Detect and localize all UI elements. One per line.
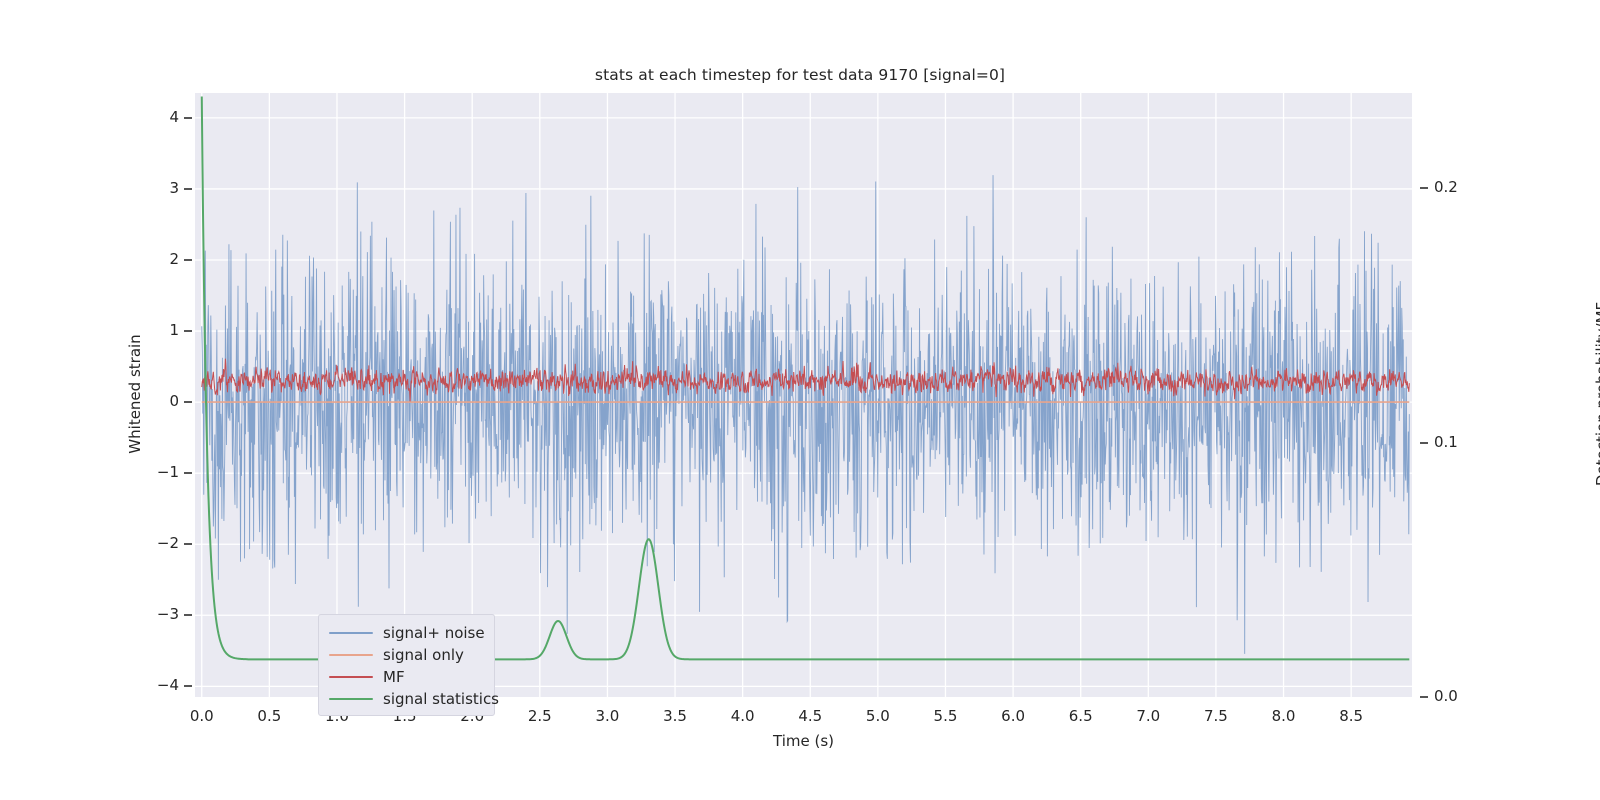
y-tick-mark-left xyxy=(184,188,192,190)
x-tick-label: 8.5 xyxy=(1321,707,1381,725)
legend-item: signal statistics xyxy=(319,688,496,710)
y-tick-label-left: −4 xyxy=(135,676,179,694)
y-tick-label-right: 0.0 xyxy=(1434,687,1458,705)
legend: signal+ noisesignal onlyMFsignal statist… xyxy=(318,614,495,716)
x-tick-label: 3.5 xyxy=(645,707,705,725)
x-tick-label: 0.0 xyxy=(172,707,232,725)
y-tick-label-left: −2 xyxy=(135,534,179,552)
legend-item-label: signal+ noise xyxy=(383,622,485,644)
x-axis-label: Time (s) xyxy=(195,732,1412,750)
x-tick-label: 8.0 xyxy=(1254,707,1314,725)
x-tick-label: 4.0 xyxy=(713,707,773,725)
legend-color-swatch xyxy=(329,676,373,678)
y-tick-mark-left xyxy=(184,401,192,403)
x-tick-label: 3.0 xyxy=(577,707,637,725)
x-tick-label: 6.0 xyxy=(983,707,1043,725)
y-tick-mark-right xyxy=(1420,442,1428,444)
data-traces xyxy=(0,0,1600,800)
legend-item: MF xyxy=(319,666,496,688)
x-tick-label: 7.0 xyxy=(1118,707,1178,725)
x-tick-label: 2.5 xyxy=(510,707,570,725)
y-tick-label-right: 0.2 xyxy=(1434,178,1458,196)
legend-color-swatch xyxy=(329,698,373,700)
y-tick-label-left: 2 xyxy=(135,250,179,268)
x-tick-label: 5.5 xyxy=(915,707,975,725)
x-tick-label: 4.5 xyxy=(780,707,840,725)
y-tick-mark-left xyxy=(184,543,192,545)
x-tick-label: 7.5 xyxy=(1186,707,1246,725)
y-tick-mark-left xyxy=(184,685,192,687)
legend-item-label: signal only xyxy=(383,644,464,666)
legend-item: signal+ noise xyxy=(319,622,496,644)
y-axis-right-label: Detection probability/MF xyxy=(1593,264,1600,524)
matplotlib-figure: stats at each timestep for test data 917… xyxy=(0,0,1600,800)
y-tick-label-left: −3 xyxy=(135,605,179,623)
y-tick-mark-left xyxy=(184,614,192,616)
page-title: stats at each timestep for test data 917… xyxy=(0,66,1600,84)
legend-color-swatch xyxy=(329,632,373,634)
y-tick-mark-right xyxy=(1420,187,1428,189)
y-tick-mark-left xyxy=(184,472,192,474)
legend-item: signal only xyxy=(319,644,496,666)
y-axis-left-label: Whitened strain xyxy=(126,294,144,494)
legend-item-label: signal statistics xyxy=(383,688,499,710)
legend-item-label: MF xyxy=(383,666,405,688)
x-tick-label: 0.5 xyxy=(239,707,299,725)
y-tick-label-right: 0.1 xyxy=(1434,433,1458,451)
legend-color-swatch xyxy=(329,654,373,656)
y-tick-label-left: 3 xyxy=(135,179,179,197)
y-tick-mark-left xyxy=(184,330,192,332)
y-tick-mark-right xyxy=(1420,696,1428,698)
x-tick-label: 6.5 xyxy=(1051,707,1111,725)
y-tick-mark-left xyxy=(184,259,192,261)
x-tick-label: 5.0 xyxy=(848,707,908,725)
y-tick-mark-left xyxy=(184,117,192,119)
y-tick-label-left: 4 xyxy=(135,108,179,126)
